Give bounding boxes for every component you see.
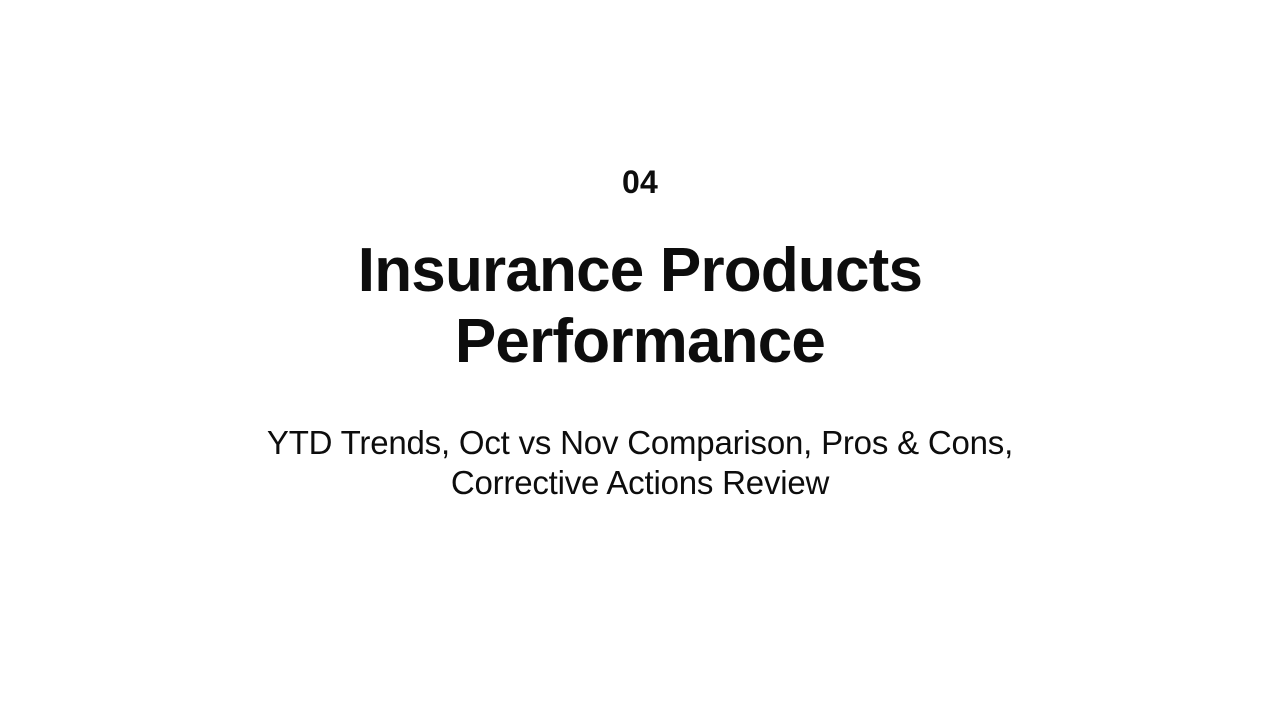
section-number: 04 — [622, 160, 658, 204]
section-divider-slide: 04 Insurance Products Performance YTD Tr… — [0, 0, 1280, 720]
page-title: Insurance Products Performance — [260, 235, 1020, 377]
slide-subtitle: YTD Trends, Oct vs Nov Comparison, Pros … — [260, 423, 1020, 503]
slide-content-block: 04 Insurance Products Performance YTD Tr… — [0, 160, 1280, 503]
